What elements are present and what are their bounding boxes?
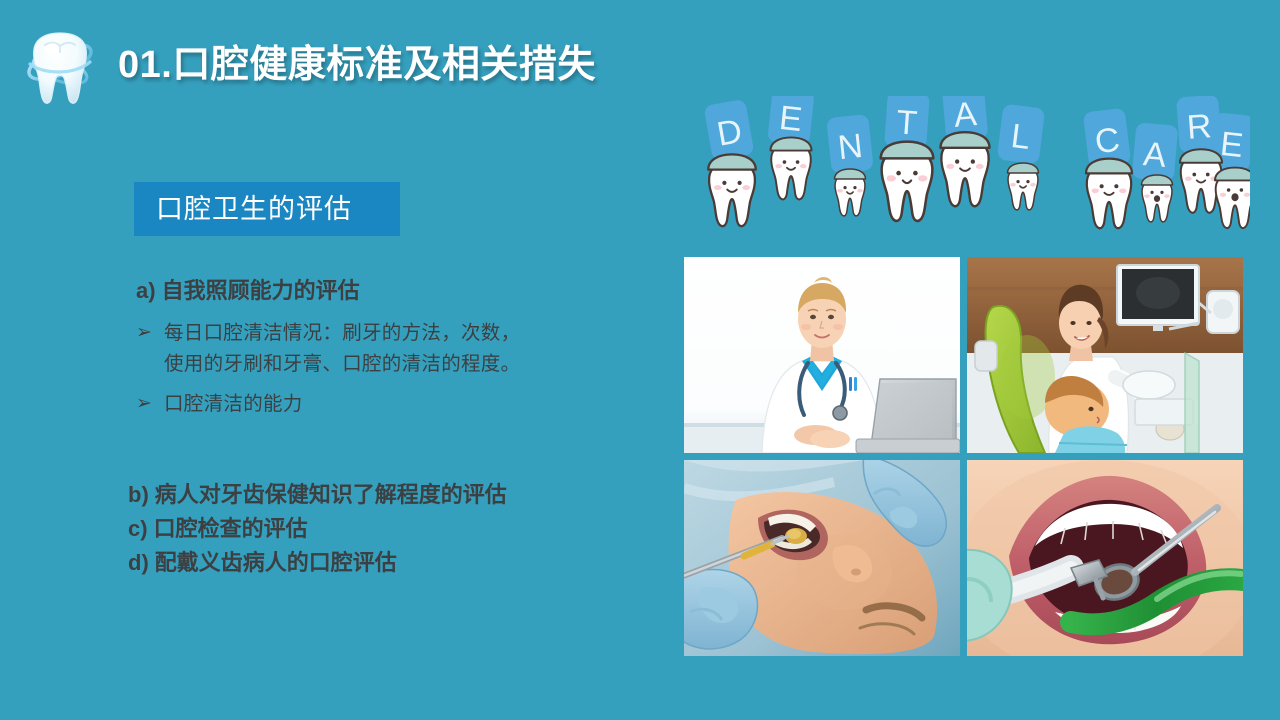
section-chip-label: 口腔卫生的评估 (156, 196, 352, 223)
content-block: a)自我照顾能力的评估 ➢ 每日口腔清洁情况：刷牙的方法，次数， 使用的牙刷和牙… (136, 278, 656, 429)
photo-open-mouth-closeup (967, 460, 1243, 656)
slide-root: 01.口腔健康标准及相关措失 口腔卫生的评估 a)自我照顾能力的评估 ➢ 每日口… (0, 0, 1280, 720)
svg-text:E: E (777, 99, 804, 139)
slide-header: 01.口腔健康标准及相关措失 (0, 18, 660, 114)
svg-text:A: A (952, 96, 978, 135)
arrow-bullet-icon: ➢ (136, 318, 164, 347)
tooth-character (1086, 159, 1132, 229)
letter-card-L: L (997, 104, 1046, 165)
letter-card-N: N (826, 114, 874, 174)
tooth-character (1142, 175, 1173, 222)
tooth-icon (12, 18, 108, 114)
photo-doctor-with-laptop (684, 257, 960, 453)
arrow-bullet-icon: ➢ (136, 389, 164, 418)
svg-text:T: T (895, 103, 918, 142)
item-d-label: 配戴义齿病人的口腔评估 (155, 550, 397, 575)
section-chip: 口腔卫生的评估 (134, 182, 400, 236)
tooth-character (708, 154, 756, 226)
tooth-character (1215, 168, 1250, 228)
list-item-c: c)口腔检查的评估 (128, 512, 668, 546)
list-item: ➢ 口腔清洁的能力 (136, 389, 656, 419)
photo-dental-procedure-patient (684, 460, 960, 656)
list-item-b: b)病人对牙齿保健知识了解程度的评估 (128, 478, 668, 512)
photo-dentist-with-child (967, 257, 1243, 453)
item-a-label: 自我照顾能力的评估 (162, 278, 360, 303)
svg-text:A: A (1142, 135, 1168, 175)
item-d-marker: d) (128, 550, 149, 575)
list-item: ➢ 每日口腔清洁情况：刷牙的方法，次数， 使用的牙刷和牙膏、口腔的清洁的程度。 (136, 318, 656, 378)
item-b-marker: b) (128, 482, 149, 507)
tooth-character (941, 132, 990, 206)
dental-care-banner: D E N T A (690, 96, 1250, 246)
item-c-marker: c) (128, 516, 148, 541)
list-item-d: d)配戴义齿病人的口腔评估 (128, 546, 668, 580)
tooth-character (1008, 163, 1039, 210)
tail-list: b)病人对牙齿保健知识了解程度的评估 c)口腔检查的评估 d)配戴义齿病人的口腔… (128, 478, 668, 580)
letter-card-D: D (703, 99, 754, 161)
photo-grid (684, 257, 1243, 660)
svg-text:C: C (1093, 121, 1122, 162)
list-item-a: a)自我照顾能力的评估 (136, 278, 656, 304)
tooth-character (881, 142, 934, 221)
page-title: 01.口腔健康标准及相关措失 (118, 45, 596, 87)
tooth-character (771, 137, 812, 199)
svg-text:N: N (836, 127, 864, 167)
sub-item-label: 每日口腔清洁情况：刷牙的方法，次数， 使用的牙刷和牙膏、口腔的清洁的程度。 (164, 318, 520, 378)
svg-text:R: R (1186, 107, 1213, 147)
letter-card-A2: A (1132, 122, 1179, 181)
sub-list: ➢ 每日口腔清洁情况：刷牙的方法，次数， 使用的牙刷和牙膏、口腔的清洁的程度。 … (136, 318, 656, 419)
item-a-marker: a) (136, 278, 156, 303)
tooth-character (835, 169, 866, 216)
item-b-label: 病人对牙齿保健知识了解程度的评估 (155, 482, 507, 507)
item-c-label: 口腔检查的评估 (154, 516, 308, 541)
sub-item-label: 口腔清洁的能力 (164, 389, 303, 419)
